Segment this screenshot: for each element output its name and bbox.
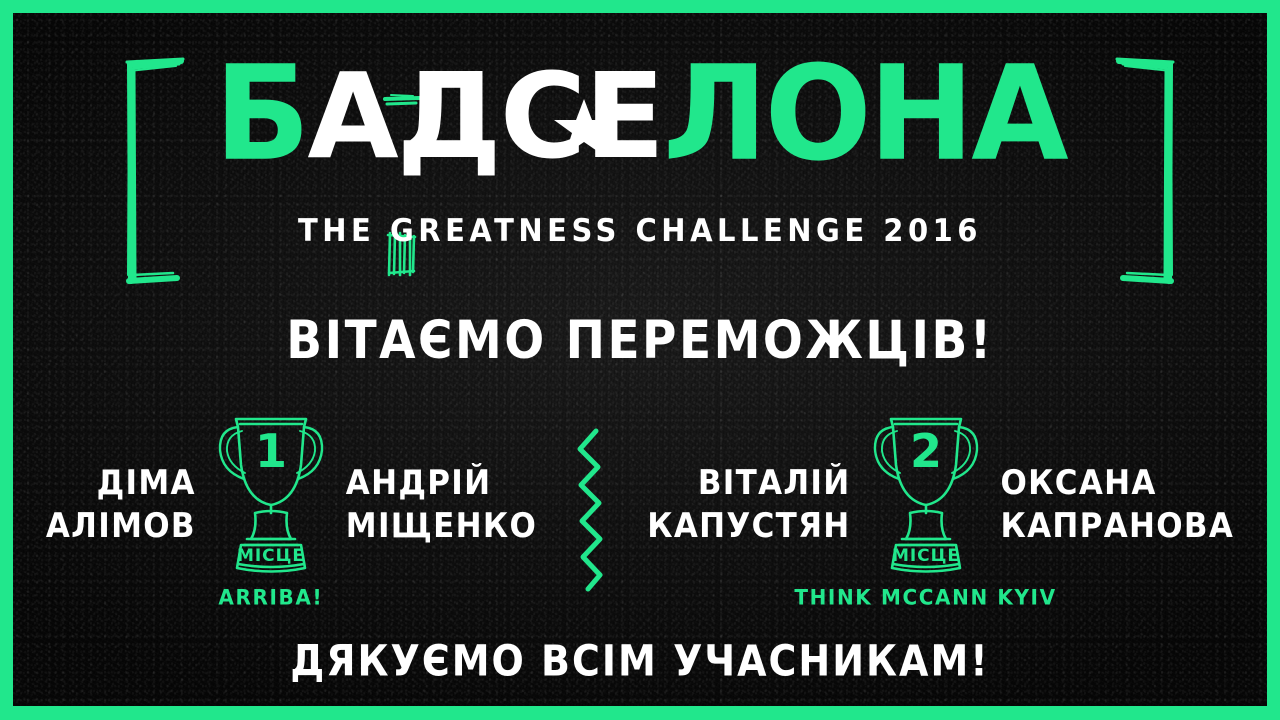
winner-team-caption: THINK MCCANN KYIV xyxy=(794,584,1056,609)
trophy-icon: 1 МІСЦЕ xyxy=(211,405,331,575)
trophy-icon: 2 МІСЦЕ xyxy=(866,405,986,575)
wordmark-row: Б АДС Е ЛОНА xyxy=(13,35,1267,205)
winner-group-first: ДІМА АЛІМОВ xyxy=(46,405,537,609)
trophy-place-number: 1 xyxy=(255,424,287,478)
page-title: ВІТАЄМО ПЕРЕМОЖЦІВ! xyxy=(13,310,1267,372)
trophy-place-label: МІСЦЕ xyxy=(891,546,959,566)
winner-last-name: МІЩЕНКО xyxy=(346,505,537,548)
wordmark-part-lona: ЛОНА xyxy=(663,48,1066,179)
trophy-column-first: 1 МІСЦЕ ARRIBA! xyxy=(196,405,346,609)
logo-block: Б АДС Е ЛОНА THE GREATNESS CHALLENGE 201… xyxy=(13,35,1267,285)
wordmark-part-b: Б xyxy=(214,48,307,179)
poster-board: Б АДС Е ЛОНА THE GREATNESS CHALLENGE 201… xyxy=(13,13,1267,706)
winner-name-block: ДІМА АЛІМОВ xyxy=(46,398,196,548)
trophy-place-number: 2 xyxy=(909,424,941,478)
winner-last-name: АЛІМОВ xyxy=(46,505,196,548)
poster-frame: Б АДС Е ЛОНА THE GREATNESS CHALLENGE 201… xyxy=(0,0,1280,720)
winner-last-name: КАПРАНОВА xyxy=(1001,505,1235,548)
winners-section: ДІМА АЛІМОВ xyxy=(13,405,1267,615)
winner-first-name: ОКСАНА xyxy=(1001,462,1235,505)
wordmark-part-ads: АДС xyxy=(307,57,584,175)
footer-thanks-text: ДЯКУЄМО ВСІМ УЧАСНИКАМ! xyxy=(13,636,1267,685)
winner-group-second: ВІТАЛІЙ КАПУСТЯН xyxy=(647,405,1234,609)
trophy-place-label: МІСЦЕ xyxy=(237,546,305,566)
logo-tagline: THE GREATNESS CHALLENGE 2016 xyxy=(13,212,1267,249)
winner-name-block: ОКСАНА КАПРАНОВА xyxy=(1001,398,1235,548)
trophy-column-second: 2 МІСЦЕ THINK MCCANN KYIV xyxy=(851,405,1001,609)
star-icon xyxy=(553,97,615,161)
winner-name-block: ВІТАЛІЙ КАПУСТЯН xyxy=(647,398,850,548)
winner-last-name: КАПУСТЯН xyxy=(647,505,850,548)
winner-team-caption: ARRIBA! xyxy=(218,584,323,609)
zigzag-divider-icon xyxy=(537,405,647,592)
winner-name-block: АНДРІЙ МІЩЕНКО xyxy=(346,398,537,548)
winner-first-name: АНДРІЙ xyxy=(346,462,537,505)
winner-first-name: ДІМА xyxy=(46,462,196,505)
winner-first-name: ВІТАЛІЙ xyxy=(647,462,850,505)
